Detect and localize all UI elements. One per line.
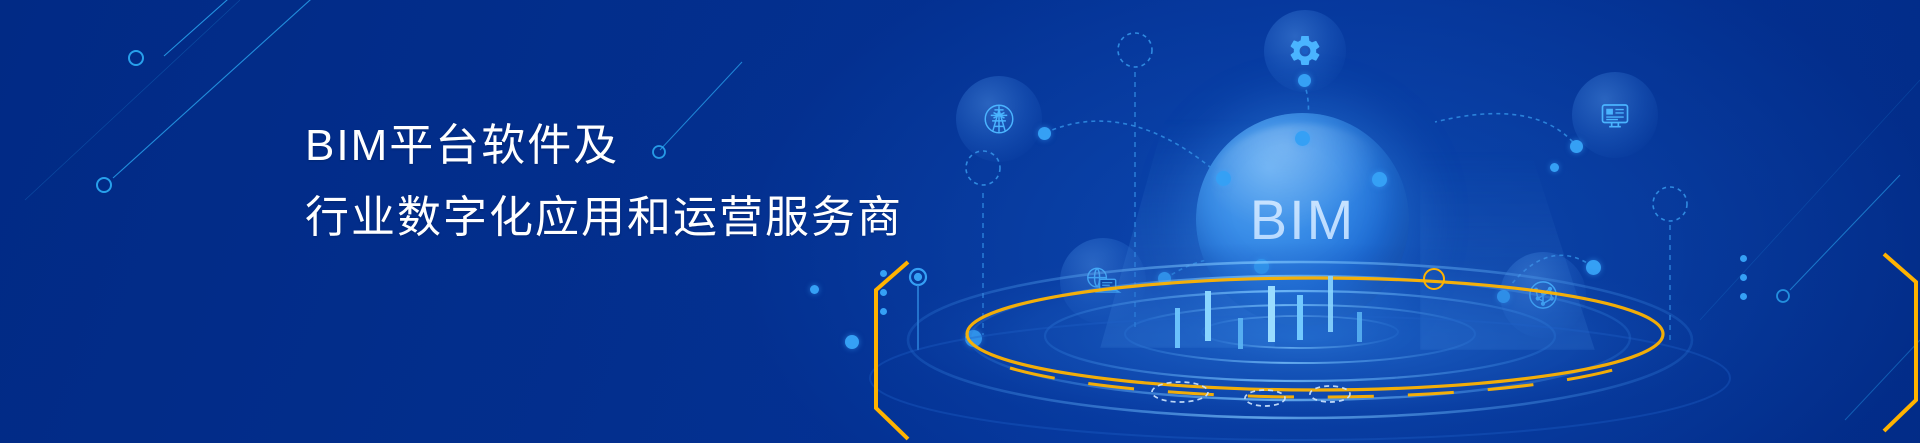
node-monitor[interactable]	[1572, 72, 1658, 158]
node-gear-connector-dot	[1298, 74, 1311, 87]
platform-base	[860, 228, 1920, 443]
sphere-anchor-dot-top	[1295, 131, 1310, 146]
gear-icon	[1287, 33, 1323, 69]
headline-line-1: BIM平台软件及	[305, 110, 903, 182]
node-power-tower[interactable]	[956, 76, 1042, 162]
banner-headline: BIM平台软件及 行业数字化应用和运营服务商	[305, 110, 903, 254]
node-tower-connector-dot	[1038, 127, 1051, 140]
floating-dot-3	[810, 285, 819, 294]
accent-ring	[1423, 268, 1445, 290]
sphere-anchor-dot-upper-right	[1372, 172, 1387, 187]
headline-line-2: 行业数字化应用和运营服务商	[305, 182, 903, 254]
monitor-icon	[1595, 95, 1635, 135]
sphere-anchor-dot-upper-left	[1216, 171, 1231, 186]
yellow-bracket	[862, 258, 942, 443]
node-monitor-small-dot	[1550, 163, 1559, 172]
yellow-bracket-right	[1870, 250, 1920, 435]
bim-illustration: BIM	[860, 0, 1920, 443]
hero-banner: BIM平台软件及 行业数字化应用和运营服务商	[0, 0, 1920, 443]
power-tower-icon	[977, 97, 1021, 141]
node-monitor-connector-dot	[1570, 140, 1583, 153]
floating-dot-1	[845, 335, 859, 349]
